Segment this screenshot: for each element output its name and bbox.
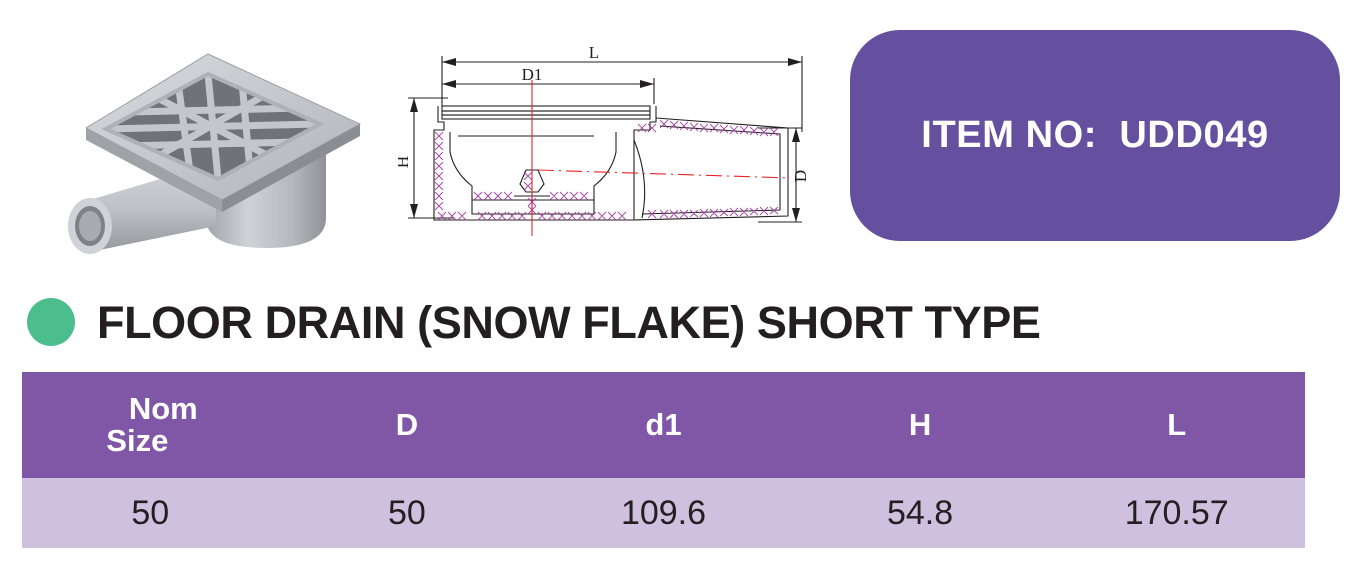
dimension-label-H: H bbox=[398, 156, 412, 168]
technical-drawing-svg: L D1 H D bbox=[398, 40, 828, 255]
product-photo-illustration bbox=[30, 12, 420, 274]
product-photo bbox=[30, 12, 420, 274]
cell-nom-size: 50 bbox=[22, 478, 279, 548]
table-header-row: Nom Size D d1 H L bbox=[22, 372, 1305, 478]
technical-drawing: L D1 H D bbox=[398, 40, 828, 255]
specification-table: Nom Size D d1 H L 50 50 109.6 54.8 170.5… bbox=[22, 372, 1305, 548]
cell-l: 170.57 bbox=[1048, 478, 1305, 548]
dimension-label-D: D bbox=[791, 170, 810, 182]
product-overview-section: L D1 H D ITEM NO: UDD049 bbox=[0, 0, 1368, 275]
column-header-nom-size-line2: Size bbox=[22, 425, 253, 457]
cell-h: 54.8 bbox=[792, 478, 1049, 548]
column-header-l: L bbox=[1048, 372, 1305, 478]
column-header-nom-size-line1: Nom bbox=[48, 393, 279, 425]
product-title-row: FLOOR DRAIN (SNOW FLAKE) SHORT TYPE bbox=[0, 288, 1368, 356]
cell-d: 50 bbox=[279, 478, 536, 548]
page-title: FLOOR DRAIN (SNOW FLAKE) SHORT TYPE bbox=[97, 300, 1040, 345]
item-number-badge: ITEM NO: UDD049 bbox=[850, 30, 1340, 241]
column-header-h: H bbox=[792, 372, 1049, 478]
spec-table-body: 50 50 109.6 54.8 170.57 bbox=[22, 478, 1305, 548]
column-header-d1: d1 bbox=[535, 372, 792, 478]
column-header-nom-size: Nom Size bbox=[22, 372, 279, 478]
spec-table-element: Nom Size D d1 H L 50 50 109.6 54.8 170.5… bbox=[22, 372, 1305, 548]
dimension-label-L: L bbox=[589, 43, 599, 62]
cell-d1: 109.6 bbox=[535, 478, 792, 548]
spec-table-head: Nom Size D d1 H L bbox=[22, 372, 1305, 478]
dimension-label-D1: D1 bbox=[522, 65, 543, 84]
item-number-label: ITEM NO: UDD049 bbox=[921, 114, 1268, 157]
table-row: 50 50 109.6 54.8 170.57 bbox=[22, 478, 1305, 548]
bullet-circle-icon bbox=[27, 298, 75, 346]
column-header-d: D bbox=[279, 372, 536, 478]
